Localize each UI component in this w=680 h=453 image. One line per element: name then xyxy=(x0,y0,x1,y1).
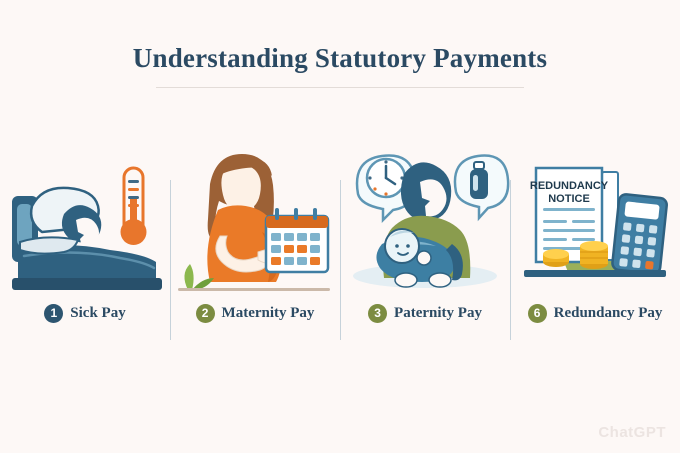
badge-number-1: 1 xyxy=(44,304,63,323)
panel-sick-pay[interactable]: 1 Sick Pay xyxy=(0,140,170,355)
badge-number-6: 6 xyxy=(528,304,547,323)
father-holding-baby-icon xyxy=(340,140,510,302)
chatgpt-watermark: ChatGPT xyxy=(598,424,666,441)
panel-paternity-pay[interactable]: 3 Paternity Pay xyxy=(340,140,510,355)
title-block: Understanding Statutory Payments xyxy=(0,44,680,88)
page-title: Understanding Statutory Payments xyxy=(0,44,680,74)
panel-redundancy-pay[interactable]: REDUNDANCY NOTICE xyxy=(510,140,680,355)
panel-maternity-pay[interactable]: 2 Maternity Pay xyxy=(170,140,340,355)
redundancy-notice-with-calculator-and-coins-icon: REDUNDANCY NOTICE xyxy=(510,140,680,302)
caption-sick-pay: 1 Sick Pay xyxy=(0,304,170,323)
pregnant-woman-with-calendar-icon xyxy=(170,140,340,302)
caption-redundancy-pay: 6 Redundancy Pay xyxy=(510,304,680,323)
badge-number-3: 3 xyxy=(368,304,387,323)
badge-number-2: 2 xyxy=(196,304,215,323)
person-in-bed-with-thermometer-icon xyxy=(0,140,170,302)
redundancy-notice-title-line1: REDUNDANCY xyxy=(530,180,609,192)
redundancy-notice-title-line2: NOTICE xyxy=(548,193,590,205)
payment-types-row: 1 Sick Pay xyxy=(0,140,680,355)
label-redundancy-pay: Redundancy Pay xyxy=(554,305,663,322)
label-paternity-pay: Paternity Pay xyxy=(394,305,482,322)
caption-paternity-pay: 3 Paternity Pay xyxy=(340,304,510,323)
title-divider xyxy=(156,87,524,88)
label-sick-pay: Sick Pay xyxy=(70,305,125,322)
caption-maternity-pay: 2 Maternity Pay xyxy=(170,304,340,323)
label-maternity-pay: Maternity Pay xyxy=(222,305,315,322)
